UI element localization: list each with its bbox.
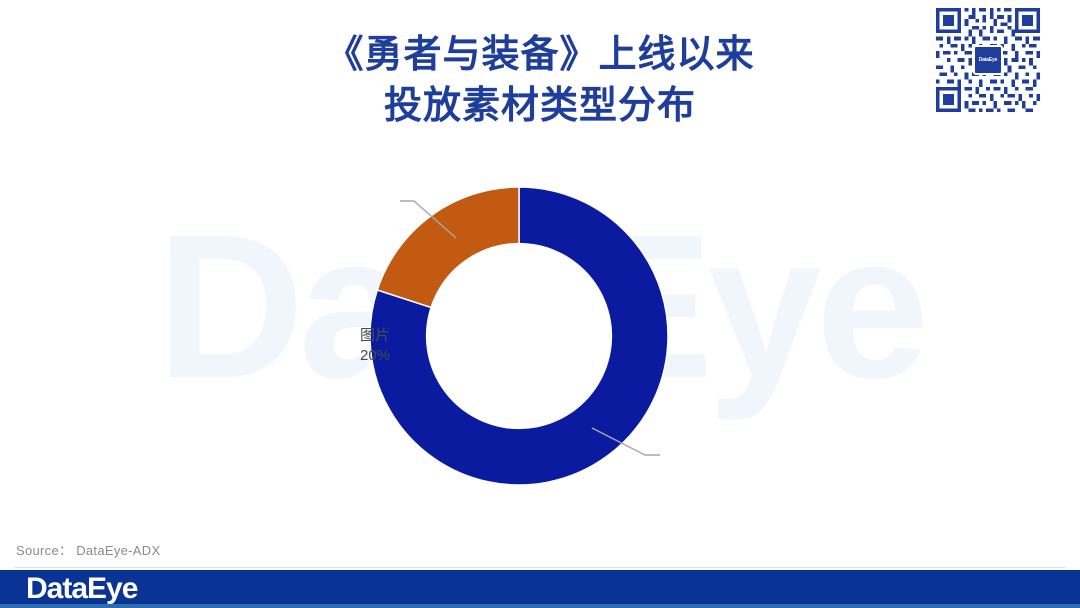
- qr-code[interactable]: DataEye: [936, 8, 1040, 112]
- pie-label-image-value: 20%: [360, 346, 390, 366]
- page-title: 《勇者与装备》上线以来 投放素材类型分布: [0, 30, 1080, 133]
- footer-bar: DataEye: [0, 570, 1080, 608]
- dataeye-logo: DataEye: [26, 572, 137, 606]
- donut-chart-svg: [0, 150, 1080, 520]
- donut-chart: 图片 20% 视频 80%: [0, 150, 1080, 520]
- footer-accent-strip: [0, 604, 1080, 608]
- footer-divider: [14, 567, 1066, 568]
- slide-canvas: DataEye 《勇者与装备》上线以来 投放素材类型分布: [0, 0, 1080, 608]
- donut-hole: [426, 243, 612, 429]
- title-line-1: 《勇者与装备》上线以来: [0, 30, 1080, 81]
- source-attribution: Source： DataEye-ADX: [16, 540, 160, 559]
- pie-label-image-name: 图片: [360, 326, 390, 346]
- title-line-2: 投放素材类型分布: [0, 81, 1080, 132]
- pie-label-image: 图片 20%: [360, 326, 390, 367]
- qr-center-logo: DataEye: [973, 45, 1003, 75]
